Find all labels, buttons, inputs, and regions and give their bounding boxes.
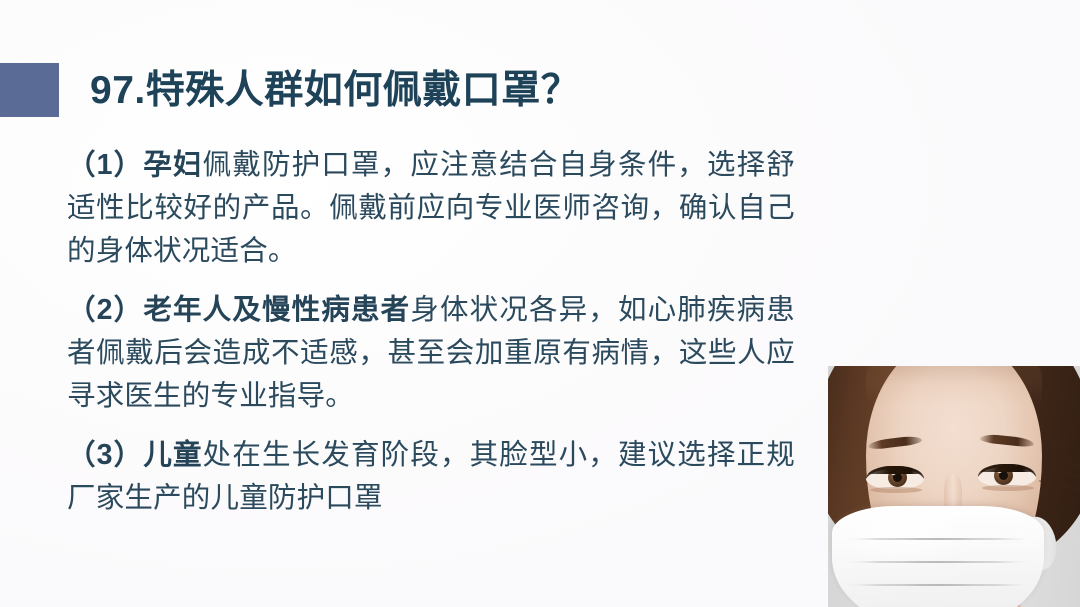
eyelash-left (866, 466, 924, 474)
slide-canvas: 97.特殊人群如何佩戴口罩？ （1）孕妇佩戴防护口罩，应注意结合自身条件，选择舒… (0, 0, 1080, 607)
page-title: 97.特殊人群如何佩戴口罩？ (90, 62, 790, 120)
mask-pleat-2 (845, 561, 1032, 563)
photo-backdrop (828, 366, 1080, 607)
paragraph-2-lead: （2）老年人及慢性病患者 (67, 294, 410, 326)
surgical-mask (832, 506, 1044, 607)
eyelash-right (978, 464, 1036, 472)
paragraph-1: （1）孕妇佩戴防护口罩，应注意结合自身条件，选择舒适性比较好的产品。佩戴前应向专… (67, 144, 795, 273)
paragraph-2: （2）老年人及慢性病患者身体状况各异，如心肺疾病患者佩戴后会造成不适感，甚至会加… (67, 289, 795, 418)
eye-right (978, 464, 1036, 487)
title-accent-block (0, 63, 59, 117)
mask-highlight (853, 516, 970, 565)
body-text-column: （1）孕妇佩戴防护口罩，应注意结合自身条件，选择舒适性比较好的产品。佩戴前应向专… (67, 144, 795, 520)
lower-eyelid-left (870, 487, 922, 493)
mask-pleat-1 (845, 538, 1032, 540)
paragraph-3: （3）儿童处在生长发育阶段，其脸型小，建议选择正规厂家生产的儿童防护口罩 (67, 434, 795, 520)
woman-wearing-surgical-mask-photo (828, 366, 1080, 607)
forehead-shadow (866, 366, 1042, 405)
paragraph-3-lead: （3）儿童 (67, 439, 203, 471)
paragraph-1-lead: （1）孕妇 (67, 149, 203, 181)
eye-left (866, 466, 924, 489)
mask-pleat-3 (845, 584, 1032, 586)
lower-eyelid-right (982, 485, 1034, 491)
